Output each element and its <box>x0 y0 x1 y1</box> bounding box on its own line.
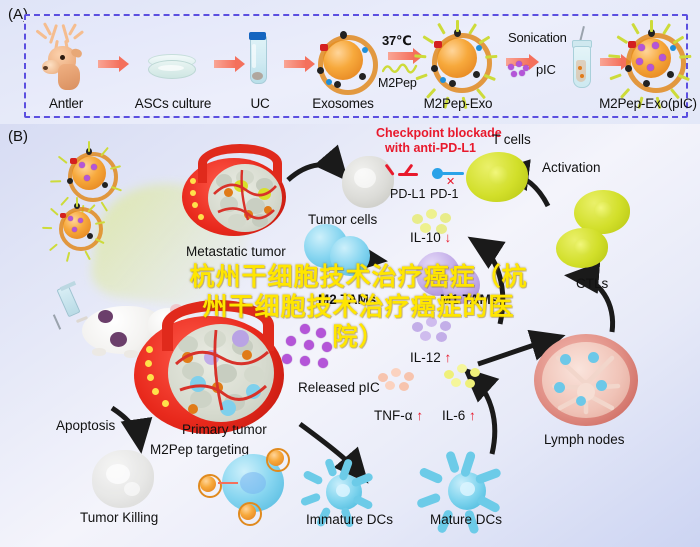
membrane-protein <box>340 31 347 39</box>
label-mature-dcs: Mature DCs <box>430 512 502 527</box>
ascs-culture-dish <box>140 50 206 80</box>
m2pep-exosome-particle <box>424 25 490 91</box>
label-checkpoint-blockade-line1: Checkpoint blockade <box>376 126 502 140</box>
label-ctls: CTLs <box>576 276 608 291</box>
t-cell-illustration <box>466 152 528 202</box>
panel-a-label-sonication: Sonication <box>508 30 567 45</box>
label-apoptosis: Apoptosis <box>56 418 115 433</box>
label-checkpoint-blockade-line2: with anti-PD-L1 <box>385 141 476 155</box>
arrow-exosomes-to-m2pepexo <box>388 52 414 60</box>
panel-a-caption-m2pepexo: M2Pep-Exo <box>412 96 504 111</box>
targeting-link <box>218 482 238 484</box>
il-6-up-arrow-icon: ↑ <box>469 408 476 423</box>
label-pd-l1: PD-L1 <box>390 187 425 201</box>
il6-cytokine-cluster <box>444 364 488 390</box>
label-tnf-alpha: TNF-α ↑ <box>374 408 423 423</box>
membrane-protein <box>317 67 324 74</box>
label-activation: Activation <box>542 160 601 175</box>
il-10-text: IL-10 <box>410 230 441 245</box>
arrow-uc-to-exosomes <box>284 60 306 68</box>
anti-pdl1-antibody-icon <box>392 162 428 188</box>
panel-b: (B) <box>0 124 700 547</box>
label-m2pep-targeting: M2Pep targeting <box>150 442 249 457</box>
label-pd-1: PD-1 <box>430 187 458 201</box>
label-m1-tams: M1 TAMs <box>440 292 498 307</box>
lymph-node-illustration <box>534 334 644 430</box>
ctl-cell-illustration <box>556 228 608 268</box>
panel-b-label: (B) <box>8 128 28 145</box>
label-t-cells: T cells <box>492 132 531 147</box>
membrane-protein <box>326 79 332 85</box>
il-6-text: IL-6 <box>442 408 465 423</box>
panel-a-caption-exosomes: Exosomes <box>302 96 384 111</box>
injected-exosome-particle <box>62 146 116 200</box>
membrane-protein <box>334 81 341 88</box>
label-metastatic-tumor: Metastatic tumor <box>186 244 286 259</box>
il12-cytokine-cluster <box>412 316 458 342</box>
label-immature-dcs: Immature DCs <box>306 512 393 527</box>
pic-particle-cluster <box>506 60 532 80</box>
panel-a-caption-m2pepexopic: M2Pep-Exo(pIC) <box>592 96 700 111</box>
m2pep-squiggle-icon <box>382 62 418 75</box>
panel-a-caption-ascs: ASCs culture <box>128 96 218 111</box>
membrane-protein <box>320 44 328 51</box>
apoptotic-cell-illustration <box>92 450 154 508</box>
panel-a-caption-antler: Antler <box>28 96 104 111</box>
tnf-alpha-text: TNF-α <box>374 408 413 423</box>
panel-a-label-temperature: 37℃ <box>382 33 412 49</box>
panel-a-label-pic: pIC <box>536 62 556 77</box>
label-released-pic: Released pIC <box>298 380 380 395</box>
panel-a-label-m2pep: M2Pep <box>378 76 417 90</box>
arrow-ascs-to-uc <box>214 60 236 68</box>
tnf-cytokine-cluster <box>378 368 422 392</box>
label-il-10: IL-10 ↓ <box>410 230 451 245</box>
label-il-6: IL-6 ↑ <box>442 408 476 423</box>
label-primary-tumor: Primary tumor <box>182 422 267 437</box>
injected-exosome-particle <box>54 202 100 248</box>
targeting-exosome <box>264 446 288 470</box>
label-m2-tams: M2 TAMs <box>318 292 376 307</box>
targeting-exosome <box>196 472 220 496</box>
sonication-tube <box>566 26 596 88</box>
uc-centrifuge-tube <box>246 28 272 88</box>
membrane-protein <box>359 73 366 80</box>
panel-a: (A) Antler <box>0 0 700 124</box>
figure-root: (A) Antler <box>0 0 700 547</box>
targeting-exosome <box>236 500 260 524</box>
m2-tam-cell <box>330 236 370 276</box>
il-12-up-arrow-icon: ↑ <box>445 350 452 365</box>
exosome-particle <box>314 31 372 89</box>
panel-a-caption-uc: UC <box>236 96 284 111</box>
label-lymph-nodes: Lymph nodes <box>544 432 625 447</box>
tnf-alpha-up-arrow-icon: ↑ <box>416 408 423 423</box>
m2pep-exosome-pic-particle <box>618 25 684 91</box>
il-10-down-arrow-icon: ↓ <box>445 230 452 245</box>
metastatic-tumor-illustration <box>182 144 302 248</box>
label-il-12: IL-12 ↑ <box>410 350 451 365</box>
label-tumor-killing: Tumor Killing <box>80 510 158 525</box>
il-12-text: IL-12 <box>410 350 441 365</box>
arrow-antler-to-ascs <box>98 60 120 68</box>
membrane-protein <box>362 47 368 53</box>
